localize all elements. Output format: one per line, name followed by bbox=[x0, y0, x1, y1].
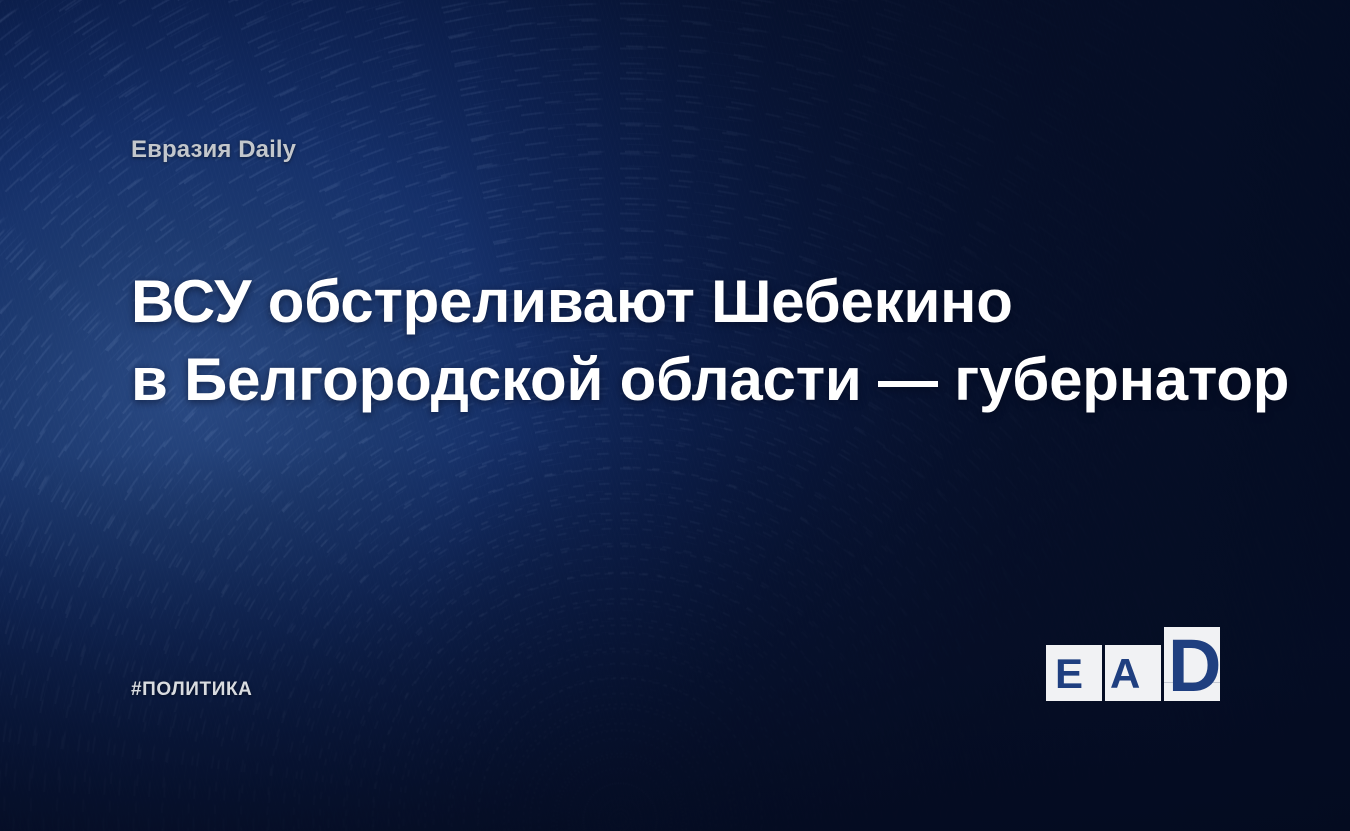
headline-line-1: ВСУ обстреливают Шебекино bbox=[131, 263, 1241, 341]
card-content: Евразия Daily ВСУ обстреливают Шебекино … bbox=[0, 0, 1350, 831]
brand-label: Евразия Daily bbox=[131, 136, 296, 164]
category-hashtag[interactable]: #ПОЛИТИКА bbox=[131, 679, 253, 701]
logo-letter-d: D bbox=[1168, 629, 1221, 703]
logo-letter-a: A bbox=[1110, 653, 1140, 695]
ead-logo[interactable]: E A D bbox=[1046, 625, 1220, 707]
headline-line-2: в Белгородской области — губернатор bbox=[131, 341, 1241, 419]
news-card: Евразия Daily ВСУ обстреливают Шебекино … bbox=[0, 0, 1350, 831]
logo-letter-e: E bbox=[1055, 653, 1083, 695]
headline: ВСУ обстреливают Шебекино в Белгородской… bbox=[131, 263, 1241, 419]
